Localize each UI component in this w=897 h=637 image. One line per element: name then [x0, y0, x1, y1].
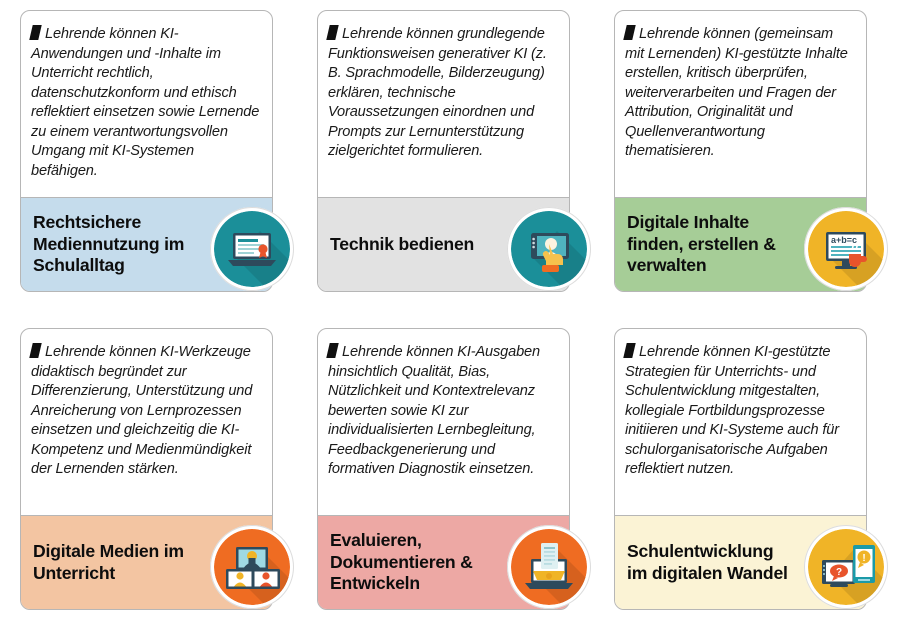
- card-description: Lehrende können KI-gestützte Strategien …: [625, 343, 854, 480]
- card-cell: Lehrende können KI-gestützte Strategien …: [594, 318, 891, 636]
- card-description-text: Lehrende können (gemeinsam mit Lernenden…: [625, 26, 848, 159]
- quote-slash-icon: [29, 343, 41, 358]
- card-description: Lehrende können KI-Ausgaben hinsichtlich…: [328, 343, 557, 480]
- card-description-text: Lehrende können grundlegende Funktionswe…: [328, 26, 547, 159]
- card-description-text: Lehrende können KI-Werkzeuge didaktisch …: [31, 344, 252, 477]
- card-description-text: Lehrende können KI-Ausgaben hinsichtlich…: [328, 344, 540, 477]
- quote-slash-icon: [29, 25, 41, 40]
- card-description-area: Lehrende können KI-Anwendungen und -Inha…: [21, 11, 272, 197]
- card-cell: Lehrende können KI-Werkzeuge didaktisch …: [0, 318, 297, 636]
- card-description-text: Lehrende können KI-Anwendungen und -Inha…: [31, 26, 259, 179]
- laptop-certificate-icon: [210, 207, 294, 291]
- competency-card-rechtsichere-mediennutzung[interactable]: Lehrende können KI-Anwendungen und -Inha…: [20, 10, 273, 292]
- card-description: Lehrende können grundlegende Funktionswe…: [328, 25, 557, 162]
- card-description: Lehrende können KI-Werkzeuge didaktisch …: [31, 343, 260, 480]
- competency-card-grid: Lehrende können KI-Anwendungen und -Inha…: [0, 0, 897, 637]
- svg-text:?: ?: [836, 567, 842, 578]
- quote-slash-icon: [326, 25, 338, 40]
- card-cell: Lehrende können KI-Anwendungen und -Inha…: [0, 0, 297, 318]
- card-description-area: Lehrende können (gemeinsam mit Lernenden…: [615, 11, 866, 197]
- tablet-touch-hand-icon: [507, 207, 591, 291]
- card-cell: Lehrende können (gemeinsam mit Lernenden…: [594, 0, 891, 318]
- competency-card-digitale-medien-unterricht[interactable]: Lehrende können KI-Werkzeuge didaktisch …: [20, 328, 273, 610]
- card-description-text: Lehrende können KI-gestützte Strategien …: [625, 344, 839, 477]
- card-description: Lehrende können (gemeinsam mit Lernenden…: [625, 25, 854, 162]
- card-description-area: Lehrende können grundlegende Funktionswe…: [318, 11, 569, 197]
- card-description-area: Lehrende können KI-gestützte Strategien …: [615, 329, 866, 515]
- card-description-area: Lehrende können KI-Ausgaben hinsichtlich…: [318, 329, 569, 515]
- card-cell: Lehrende können KI-Ausgaben hinsichtlich…: [297, 318, 594, 636]
- quote-slash-icon: [623, 343, 635, 358]
- competency-card-schulentwicklung-digitaler-wandel[interactable]: Lehrende können KI-gestützte Strategien …: [614, 328, 867, 610]
- laptop-document-upload-icon: [507, 525, 591, 609]
- card-description: Lehrende können KI-Anwendungen und -Inha…: [31, 25, 260, 181]
- video-conference-screens-icon: [210, 525, 294, 609]
- card-cell: Lehrende können grundlegende Funktionswe…: [297, 0, 594, 318]
- quote-slash-icon: [326, 343, 338, 358]
- monitor-formula-coffee-icon: a+b=c: [804, 207, 888, 291]
- competency-card-technik-bedienen[interactable]: Lehrende können grundlegende Funktionswe…: [317, 10, 570, 292]
- card-description-area: Lehrende können KI-Werkzeuge didaktisch …: [21, 329, 272, 515]
- competency-card-digitale-inhalte[interactable]: Lehrende können (gemeinsam mit Lernenden…: [614, 10, 867, 292]
- competency-card-evaluieren-dokumentieren[interactable]: Lehrende können KI-Ausgaben hinsichtlich…: [317, 328, 570, 610]
- monitor-question-phone-alert-icon: ?!: [804, 525, 888, 609]
- svg-text:!: !: [862, 553, 865, 564]
- quote-slash-icon: [623, 25, 635, 40]
